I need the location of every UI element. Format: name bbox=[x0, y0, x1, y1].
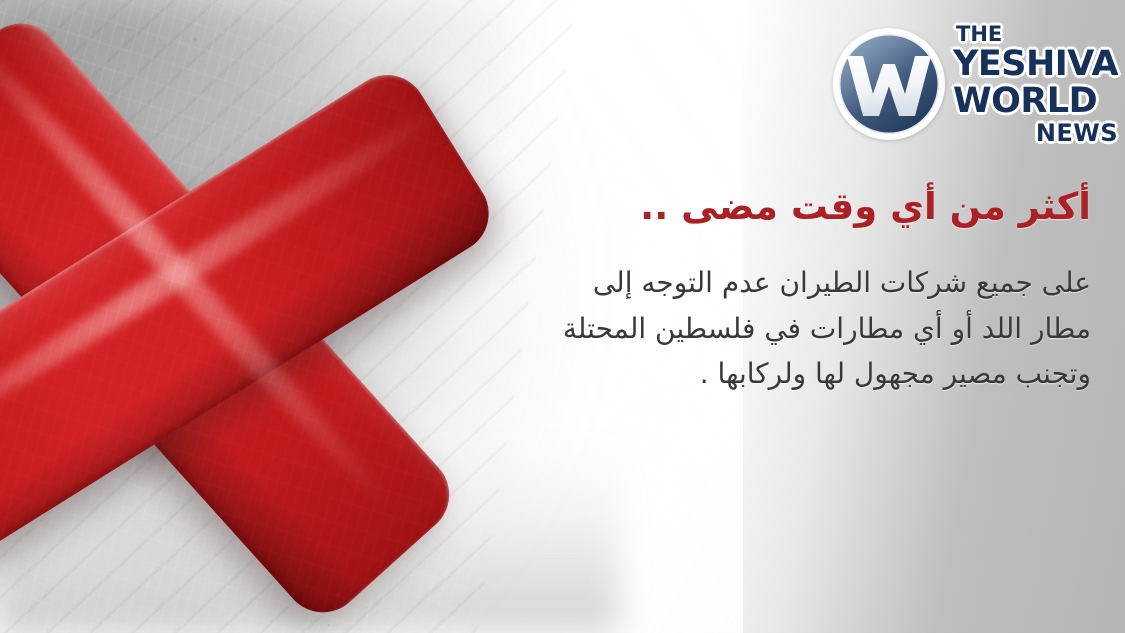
logo-wordmark: THE YESHIVA WORLD NEWS bbox=[953, 24, 1118, 145]
logo-line-the: THE bbox=[956, 24, 1118, 45]
headline: أكثر من أي وقت مضى .. bbox=[471, 184, 1091, 230]
logo-line-world: WORLD bbox=[953, 84, 1118, 119]
body-line-3: وتجنب مصير مجهول لها ولركابها . bbox=[471, 351, 1091, 396]
logo-line-news: NEWS bbox=[953, 121, 1118, 145]
yeshiva-world-w-monogram-icon bbox=[833, 28, 945, 140]
graphic-card: THE YESHIVA WORLD NEWS أكثر من أي وقت مض… bbox=[0, 0, 1125, 633]
yeshiva-world-news-logo[interactable]: THE YESHIVA WORLD NEWS bbox=[833, 24, 1108, 144]
body-line-2: مطار اللد أو أي مطارات في فلسطين المحتلة bbox=[471, 306, 1091, 351]
logo-line-yeshiva: YESHIVA bbox=[953, 47, 1118, 82]
body-line-1: على جميع شركات الطيران عدم التوجه إلى bbox=[471, 260, 1091, 305]
message-block: أكثر من أي وقت مضى .. على جميع شركات الط… bbox=[471, 184, 1091, 396]
body-text: على جميع شركات الطيران عدم التوجه إلى مط… bbox=[471, 260, 1091, 396]
